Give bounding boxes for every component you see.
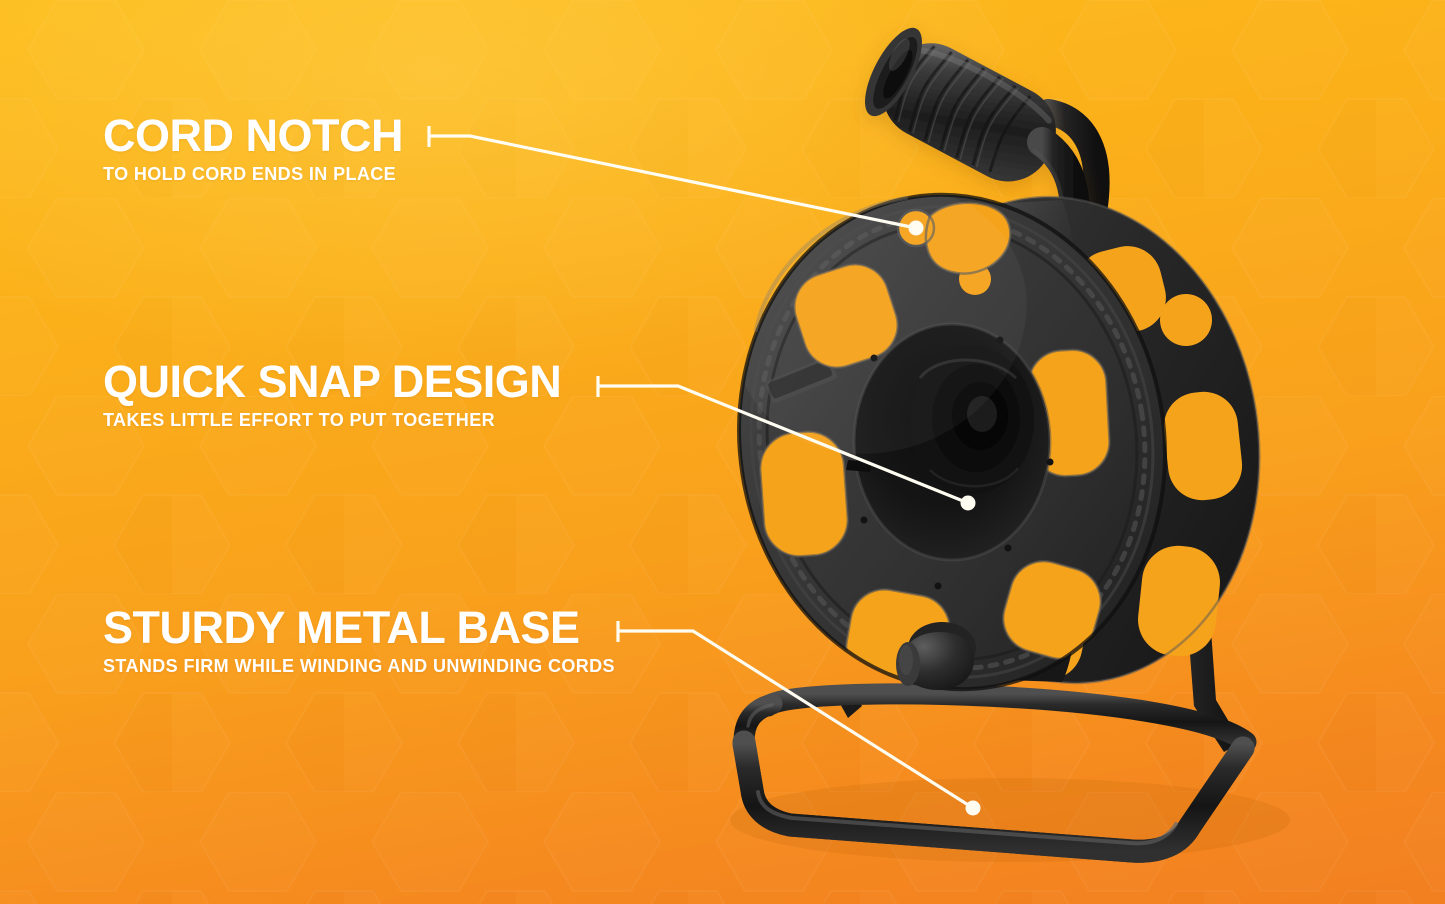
callout-subtitle-cord-notch: TO HOLD CORD ENDS IN PLACE — [103, 165, 403, 183]
callout-sturdy-metal-base: STURDY METAL BASE STANDS FIRM WHILE WIND… — [103, 605, 615, 675]
callout-cord-notch: CORD NOTCH TO HOLD CORD ENDS IN PLACE — [103, 113, 403, 183]
callout-title-cord-notch: CORD NOTCH — [103, 113, 403, 158]
callout-title-sturdy-metal-base: STURDY METAL BASE — [103, 605, 615, 650]
callout-title-quick-snap-design: QUICK SNAP DESIGN — [103, 359, 561, 404]
callout-subtitle-sturdy-metal-base: STANDS FIRM WHILE WINDING AND UNWINDING … — [103, 657, 615, 675]
callout-quick-snap-design: QUICK SNAP DESIGN TAKES LITTLE EFFORT TO… — [103, 359, 561, 429]
infographic-canvas: CORD NOTCH TO HOLD CORD ENDS IN PLACE QU… — [0, 0, 1445, 904]
callout-subtitle-quick-snap-design: TAKES LITTLE EFFORT TO PUT TOGETHER — [103, 411, 561, 429]
